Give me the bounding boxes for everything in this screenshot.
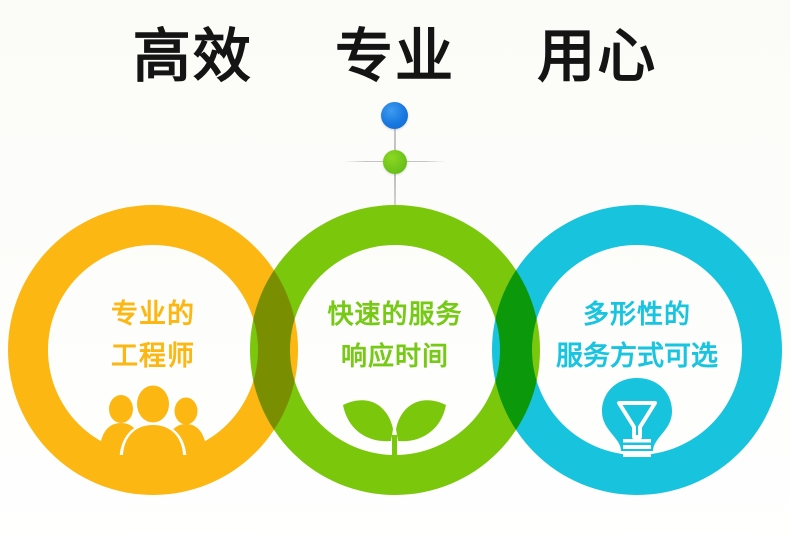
venn-rings-graphic — [0, 0, 790, 557]
ring-cyan[interactable] — [0, 0, 790, 557]
infographic-canvas: 高效 专业 用心 — [0, 0, 790, 557]
